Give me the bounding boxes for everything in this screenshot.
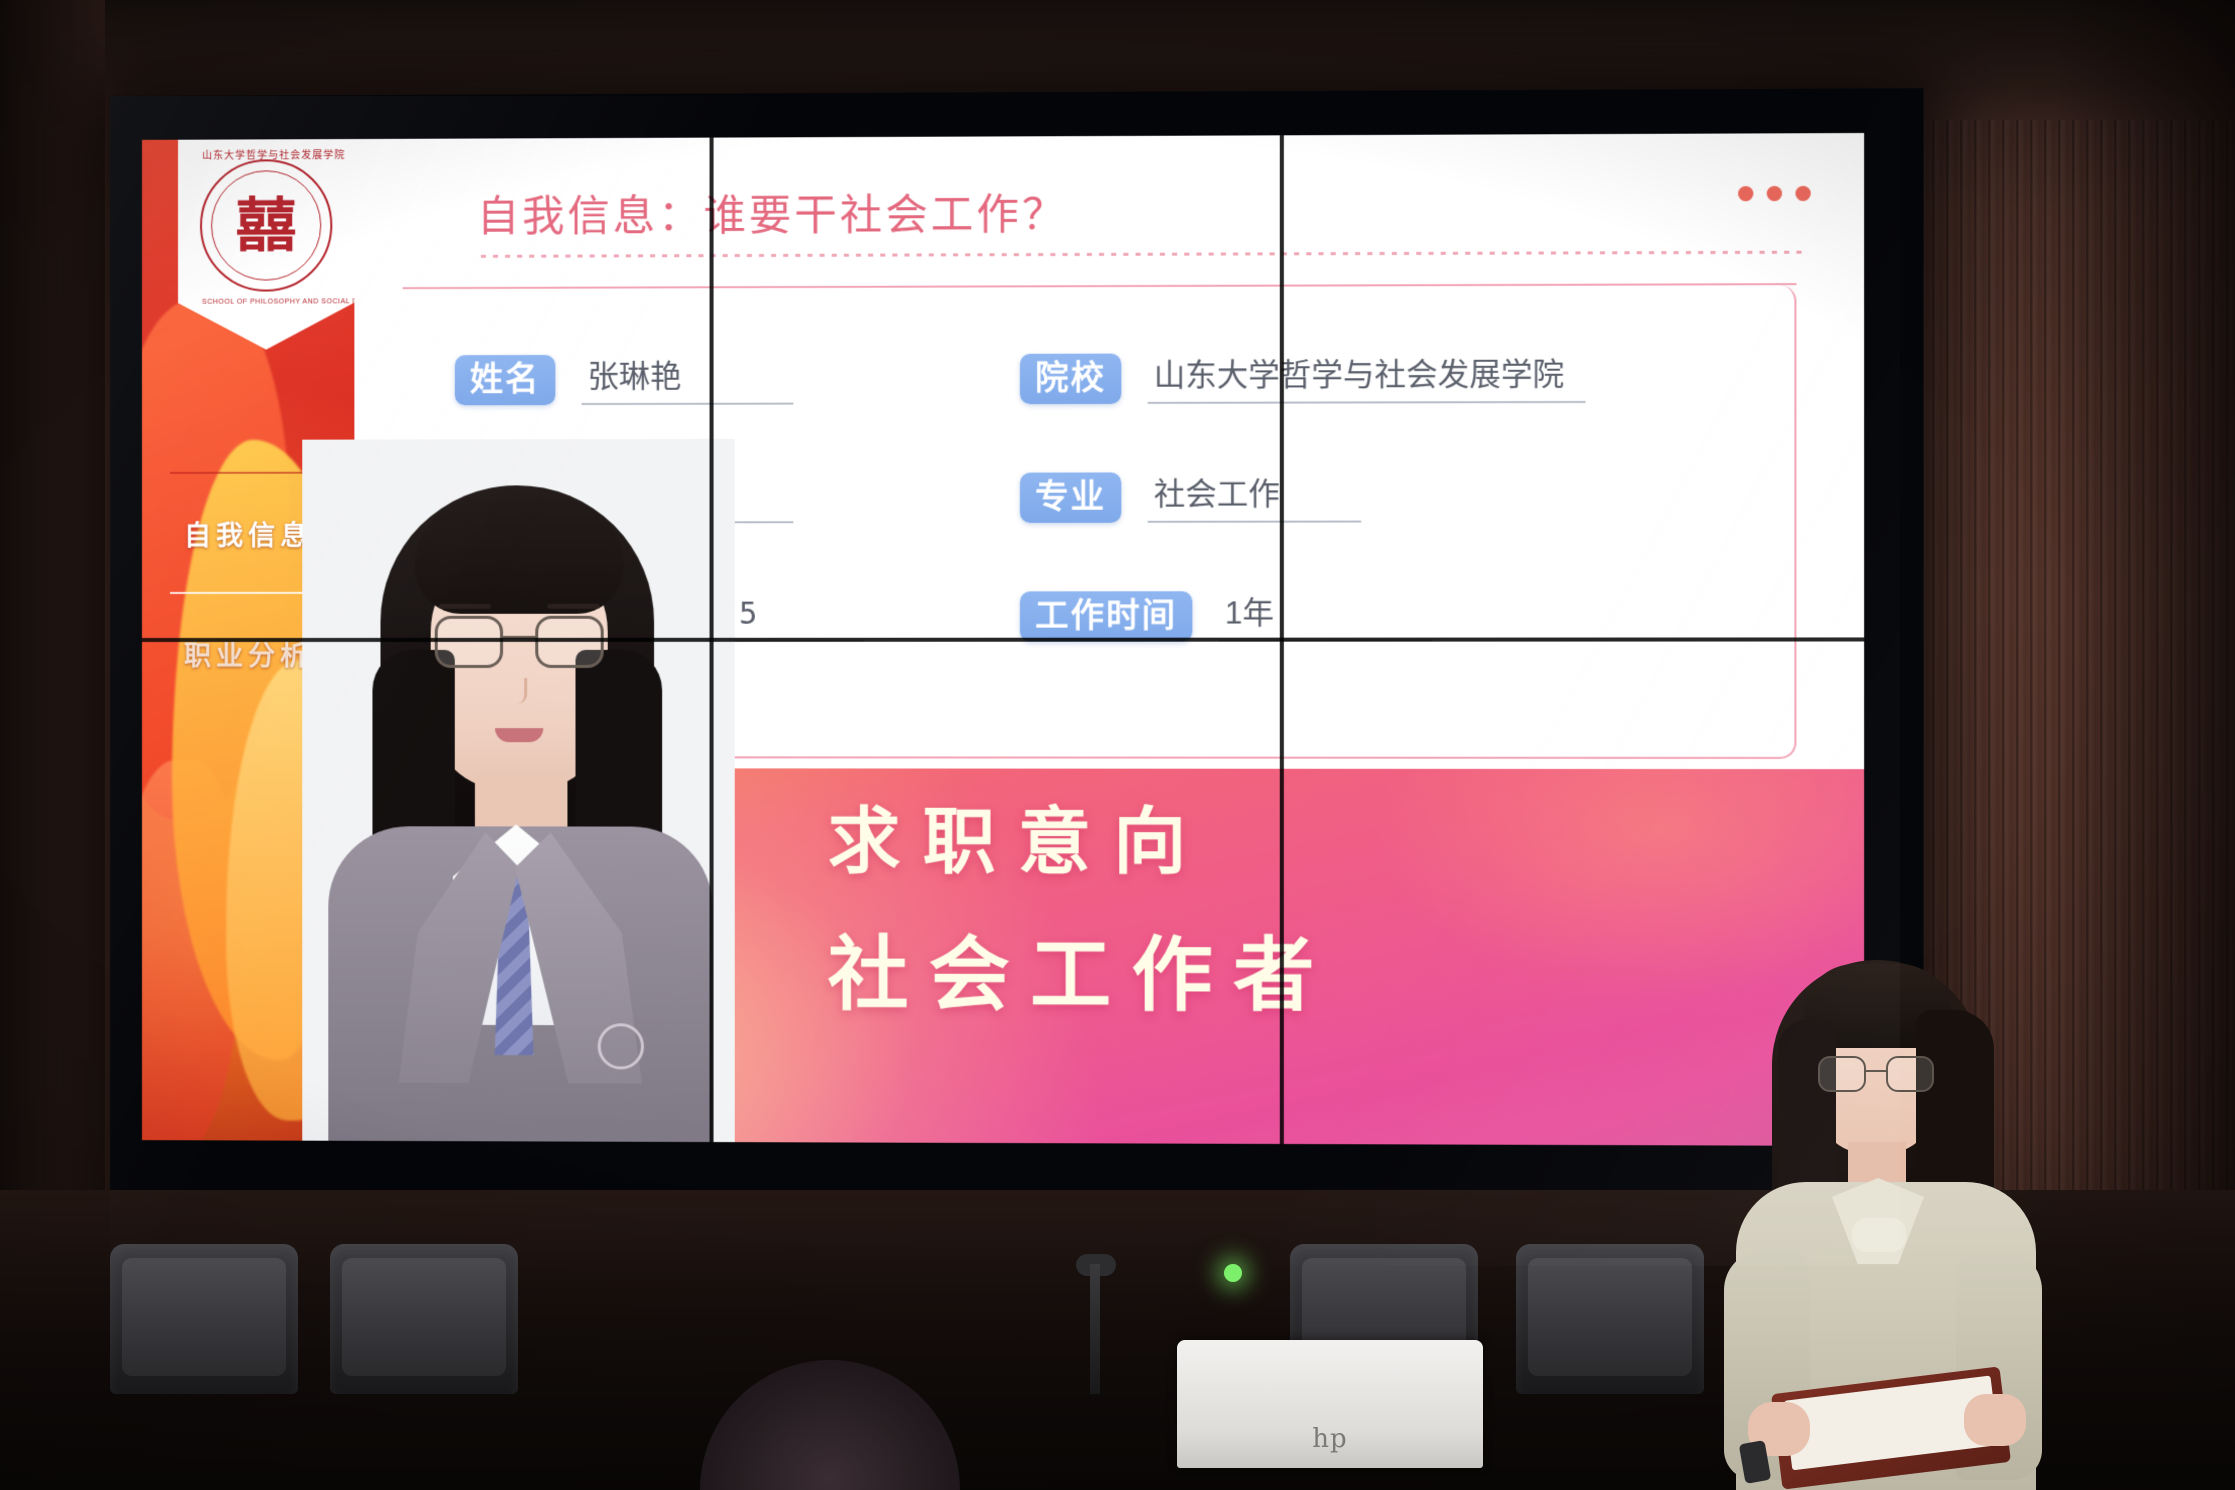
chair <box>330 1244 518 1394</box>
field-work-duration[interactable]: 工作时间 1年 <box>1020 591 1433 642</box>
emblem-arc-top-text: 山东大学哲学与社会发展学院 <box>202 146 330 162</box>
presenter-lens-left <box>1818 1056 1866 1092</box>
slide-header: 自我信息：谁要干社会工作？ <box>354 133 1864 291</box>
field-name[interactable]: 姓名 张琳艳 <box>455 354 1020 405</box>
video-wall-seam-horizontal <box>142 637 1864 642</box>
kebab-dot-3 <box>1795 186 1810 201</box>
portrait-eyebrow-left <box>439 604 491 609</box>
field-work-duration-label: 工作时间 <box>1020 591 1192 641</box>
kebab-dot-1 <box>1738 186 1753 201</box>
field-school[interactable]: 院校 山东大学哲学与社会发展学院 <box>1020 352 1586 404</box>
emblem-center-glyph: 囍 <box>236 196 297 254</box>
banner-line-1: 求职意向 <box>828 805 1335 878</box>
microphone-stand <box>1090 1264 1100 1394</box>
chair <box>110 1244 298 1394</box>
form-row-1: 姓名 张琳艳 院校 山东大学哲学与社会发展学院 <box>455 318 1754 440</box>
front-row-furniture <box>0 1230 2235 1490</box>
candidate-portrait-photo <box>302 439 735 1142</box>
video-wall-display[interactable]: 山东大学哲学与社会发展学院 囍 SCHOOL OF PHILOSOPHY AND… <box>110 88 1924 1274</box>
portrait-suit-crest <box>598 1023 644 1069</box>
banner-text-block: 求职意向 社会工作者 <box>828 805 1335 1015</box>
portrait-fringe <box>415 497 624 614</box>
conference-room-scene: 山东大学哲学与社会发展学院 囍 SCHOOL OF PHILOSOPHY AND… <box>0 0 2235 1490</box>
presenter-glasses-icon <box>1818 1056 1934 1092</box>
kebab-menu-icon[interactable] <box>1738 186 1811 201</box>
header-dotted-divider <box>481 251 1803 258</box>
field-school-label: 院校 <box>1020 354 1121 405</box>
portrait-mouth <box>495 728 543 742</box>
field-major[interactable]: 专业 社会工作 <box>1020 472 1361 523</box>
field-major-value: 社会工作 <box>1148 476 1362 522</box>
field-school-value: 山东大学哲学与社会发展学院 <box>1148 357 1586 404</box>
portrait-eyebrow-right <box>547 604 599 609</box>
field-name-label: 姓名 <box>455 355 556 405</box>
chair <box>1516 1244 1704 1394</box>
sidebar-item-self-info-label: 自我信息 <box>184 513 312 552</box>
field-name-value: 张琳艳 <box>582 359 794 405</box>
portrait-nose <box>509 678 527 704</box>
kebab-dot-2 <box>1767 186 1782 201</box>
page-title: 自我信息：谁要干社会工作？ <box>477 180 1068 243</box>
university-emblem-icon: 山东大学哲学与社会发展学院 囍 SCHOOL OF PHILOSOPHY AND… <box>200 159 332 292</box>
presenter-glasses-bridge <box>1866 1070 1886 1072</box>
presenter-lens-right <box>1886 1056 1934 1092</box>
laptop-lid: hp <box>1177 1340 1483 1468</box>
microphone-led-indicator <box>1224 1264 1242 1282</box>
laptop-brand-logo: hp <box>1312 1424 1347 1454</box>
field-major-label: 专业 <box>1020 472 1121 522</box>
presentation-slide[interactable]: 山东大学哲学与社会发展学院 囍 SCHOOL OF PHILOSOPHY AND… <box>142 133 1864 1146</box>
banner-line-2: 社会工作者 <box>828 933 1335 1015</box>
laptop[interactable]: hp <box>1155 1340 1505 1490</box>
emblem-arc-bottom-text: SCHOOL OF PHILOSOPHY AND SOCIAL DEVELOPM… <box>202 298 330 305</box>
field-work-duration-value: 1年 <box>1219 596 1433 642</box>
